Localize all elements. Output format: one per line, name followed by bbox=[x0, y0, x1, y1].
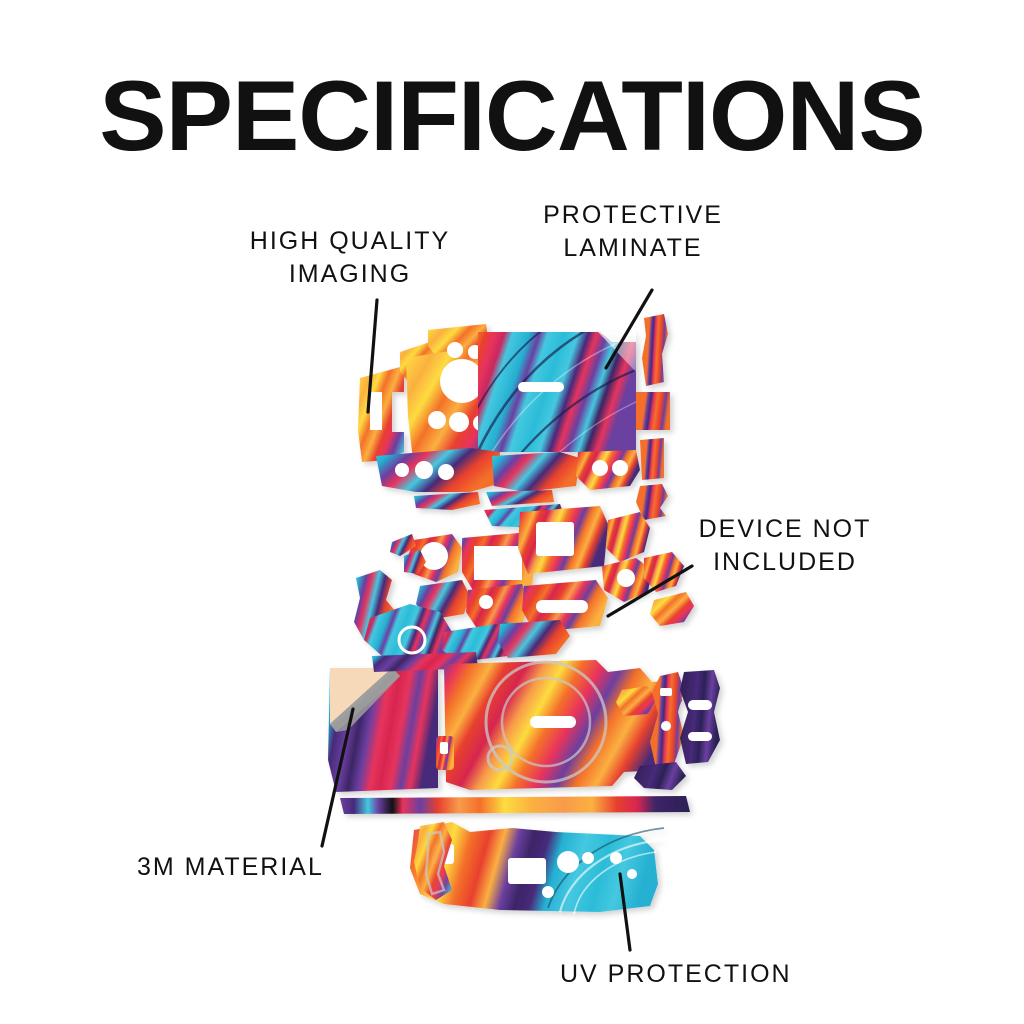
skin-piece-thin-a bbox=[414, 492, 480, 510]
skin-piece-grip-mid bbox=[492, 452, 580, 492]
cutout-viewfinder-slot bbox=[518, 382, 564, 392]
cutout-slot bbox=[688, 700, 712, 710]
cutout-hole bbox=[660, 688, 672, 696]
skin-piece-right-edge-a bbox=[642, 314, 668, 386]
callout-label-uv-protection: UV PROTECTION bbox=[560, 958, 830, 991]
cutout-hole bbox=[428, 411, 446, 429]
cutout-hole bbox=[479, 595, 493, 609]
skin-piece-group-bottom bbox=[410, 822, 664, 914]
callout-label-high-quality-imaging: HIGH QUALITY IMAGING bbox=[230, 225, 470, 290]
cutout-slot bbox=[530, 716, 576, 728]
skin-piece-group-bottom-band bbox=[328, 652, 720, 814]
skin-piece-ctrl-b bbox=[680, 670, 720, 764]
cutout-slot bbox=[370, 392, 382, 430]
cutout-hole bbox=[582, 852, 594, 864]
callout-label-device-not-included: DEVICE NOT INCLUDED bbox=[665, 513, 905, 578]
callout-label-protective-laminate: PROTECTIVE LAMINATE bbox=[533, 199, 733, 264]
cutout-hole bbox=[617, 569, 635, 587]
skin-piece-right-edge-b bbox=[636, 392, 670, 430]
cutout-hole bbox=[627, 869, 637, 879]
cutout-lens-ring bbox=[440, 359, 484, 403]
skin-piece-grip-left bbox=[376, 448, 500, 492]
skin-piece-lower-mid-b bbox=[498, 620, 570, 658]
cutout-window bbox=[536, 522, 574, 556]
cutout-slot bbox=[536, 600, 588, 613]
cutout-hole bbox=[610, 852, 622, 864]
cutout-hole bbox=[661, 721, 671, 731]
cutout-window bbox=[474, 546, 522, 580]
cutout-hole bbox=[395, 463, 409, 477]
cutout-hole bbox=[440, 742, 448, 754]
cutout-hole bbox=[447, 342, 463, 358]
cutout-hole bbox=[449, 412, 469, 432]
cutout-ring bbox=[420, 542, 448, 570]
skin-piece-long-strip bbox=[340, 796, 690, 814]
skin-piece-ctrl-tail bbox=[634, 762, 686, 790]
cutout-hole bbox=[557, 851, 579, 873]
cutout-window bbox=[508, 858, 546, 884]
specifications-infographic: SPECIFICATIONS HIGH QUALITY IMAGING PROT… bbox=[0, 0, 1024, 1024]
cutout-hole bbox=[415, 461, 433, 479]
callout-label-3m-material: 3M MATERIAL bbox=[137, 851, 383, 884]
cutout-slot bbox=[688, 732, 712, 741]
skin-piece-right-edge-c bbox=[640, 438, 664, 480]
skin-piece-right-mid-a bbox=[606, 512, 650, 562]
skin-piece-right-mid-d bbox=[650, 592, 694, 626]
cutout-hole bbox=[438, 464, 454, 480]
skin-piece-group-middle bbox=[354, 506, 694, 664]
cutout-hole bbox=[592, 460, 608, 476]
page-title: SPECIFICATIONS bbox=[0, 66, 1024, 165]
cutout-hole bbox=[542, 886, 554, 898]
skin-piece-grip-right bbox=[576, 450, 640, 490]
cutout-hole bbox=[612, 460, 628, 476]
skin-piece-thin-b bbox=[486, 490, 554, 506]
